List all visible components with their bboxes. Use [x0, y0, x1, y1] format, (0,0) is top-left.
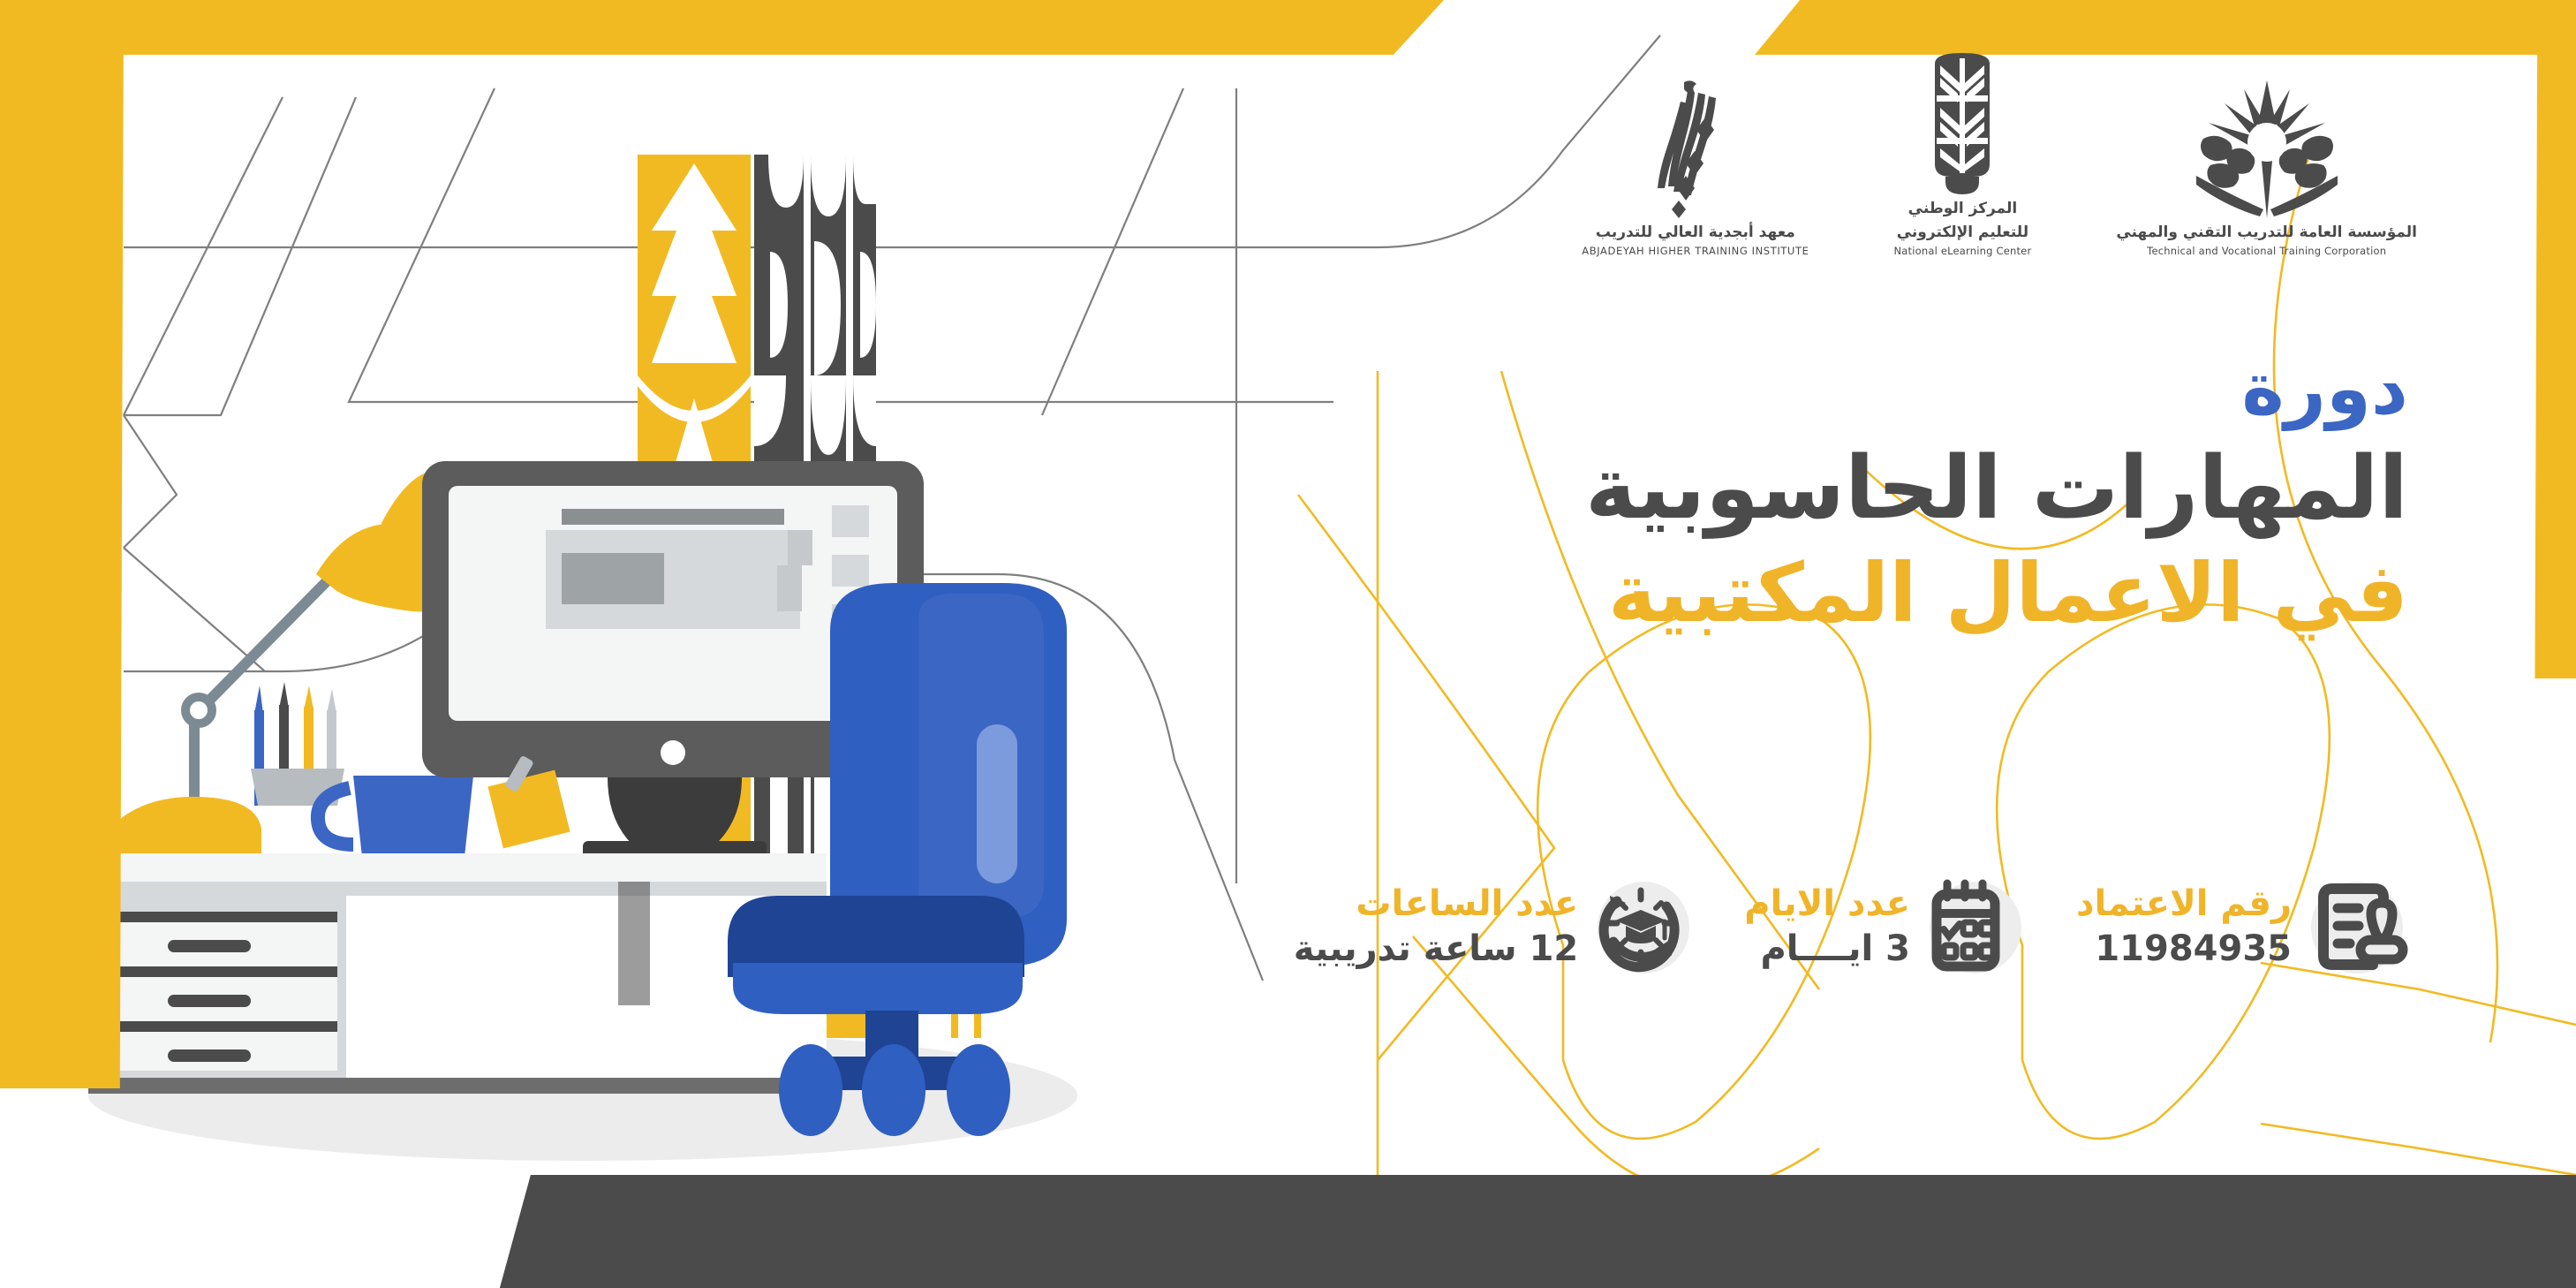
logo-tvtc: المؤسسة العامة للتدريب التقني والمهني Te…	[2116, 77, 2417, 257]
heading-kicker: دورة	[1585, 353, 2408, 426]
info-label: رقم الاعتماد	[2076, 884, 2292, 923]
frame-band-top-right	[1755, 0, 2576, 55]
logo-label-ar: معهد أبجدية العالي للتدريب	[1596, 224, 1795, 242]
logo-label-ar-line1: المركز الوطني	[1908, 200, 2018, 218]
document-stamp-icon	[2304, 875, 2408, 979]
heading-main: المهارات الحاسوبية	[1585, 438, 2408, 541]
desk	[67, 853, 827, 1094]
logo-label-ar: المؤسسة العامة للتدريب التقني والمهني	[2116, 224, 2417, 242]
info-label: عدد الساعات	[1294, 884, 1579, 923]
logo-label-en: National eLearning Center	[1893, 245, 2031, 258]
info-item-accreditation-number: رقم الاعتماد 11984935	[2076, 875, 2408, 979]
tvtc-palm-flower-logo	[2187, 77, 2346, 218]
coffee-mug	[318, 776, 473, 857]
info-value: 12 ساعة تدريبية	[1294, 928, 1579, 969]
logo-row: معهد أبجدية العالي للتدريب ABJADEYAH HIG…	[1582, 53, 2417, 257]
abjadeyah-calligraphy-logo	[1629, 77, 1762, 218]
course-heading: دورة المهارات الحاسوبية في الاعمال المكت…	[1585, 353, 2408, 641]
course-info-strip: رقم الاعتماد 11984935 عدد الايام	[1294, 875, 2408, 979]
info-item-number-of-days: عدد الايام 3 ايــــام	[1744, 875, 2027, 979]
logo-abjadeyah: معهد أبجدية العالي للتدريب ABJADEYAH HIG…	[1582, 77, 1809, 257]
frame-band-top-left	[0, 0, 1444, 55]
clock-graduation-cap-icon	[1590, 875, 1695, 979]
logo-label-en: Technical and Vocational Training Corpor…	[2147, 245, 2386, 258]
office-desk-illustration	[35, 353, 1077, 1175]
logo-nelc: المركز الوطني للتعليم الإلكتروني Nationa…	[1893, 53, 2031, 257]
desk-yellow-blob	[110, 797, 261, 855]
logo-label-ar-line2: للتعليم الإلكتروني	[1897, 224, 2028, 242]
info-value: 11984935	[2076, 928, 2292, 969]
national-elearning-center-logo	[1915, 53, 2009, 194]
heading-subtitle: في الاعمال المكتبية	[1585, 546, 2408, 642]
info-label: عدد الايام	[1744, 884, 1910, 923]
logo-label-en: ABJADEYAH HIGHER TRAINING INSTITUTE	[1582, 245, 1809, 258]
info-value: 3 ايــــام	[1744, 928, 1910, 969]
frame-band-left	[0, 0, 124, 1088]
calendar-check-icon	[1923, 875, 2027, 979]
info-item-number-of-hours: عدد الساعات 12 ساعة تدريبية	[1294, 875, 1696, 979]
